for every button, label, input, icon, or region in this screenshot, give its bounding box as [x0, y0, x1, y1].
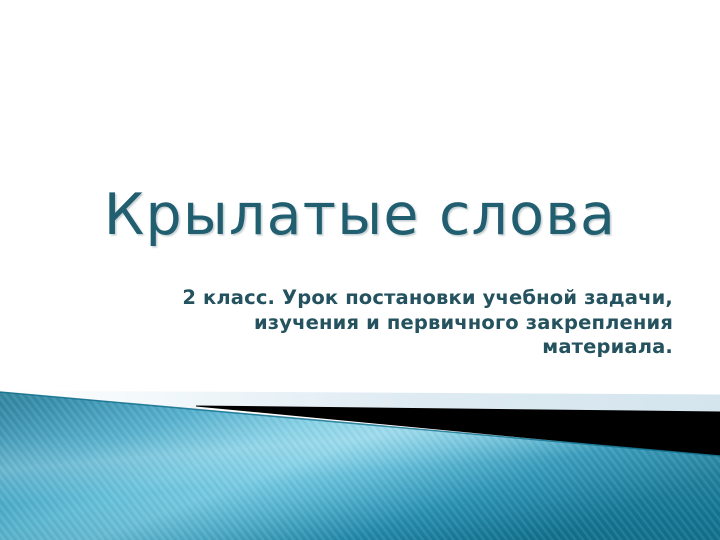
- black-wedge-shape: [196, 406, 720, 457]
- blue-shape-top-edge: [0, 392, 720, 456]
- slide-subtitle: 2 класс. Урок постановки учебной задачи,…: [60, 286, 673, 360]
- blue-triangle-shape: [0, 392, 720, 540]
- pale-sliver-shape: [0, 391, 720, 415]
- subtitle-line-2: изучения и первичного закрепления: [254, 311, 673, 334]
- presentation-slide: Крылатые слова 2 класс. Урок постановки …: [0, 0, 720, 540]
- page-title: Крылатые слова: [30, 186, 690, 246]
- bottom-decoration-band: [0, 0, 720, 540]
- title-placeholder: Крылатые слова: [30, 186, 690, 246]
- subtitle-line-1: 2 класс. Урок постановки учебной задачи,: [182, 286, 673, 309]
- subtitle-line-3: материала.: [542, 335, 673, 358]
- subtitle-placeholder: 2 класс. Урок постановки учебной задачи,…: [60, 286, 673, 360]
